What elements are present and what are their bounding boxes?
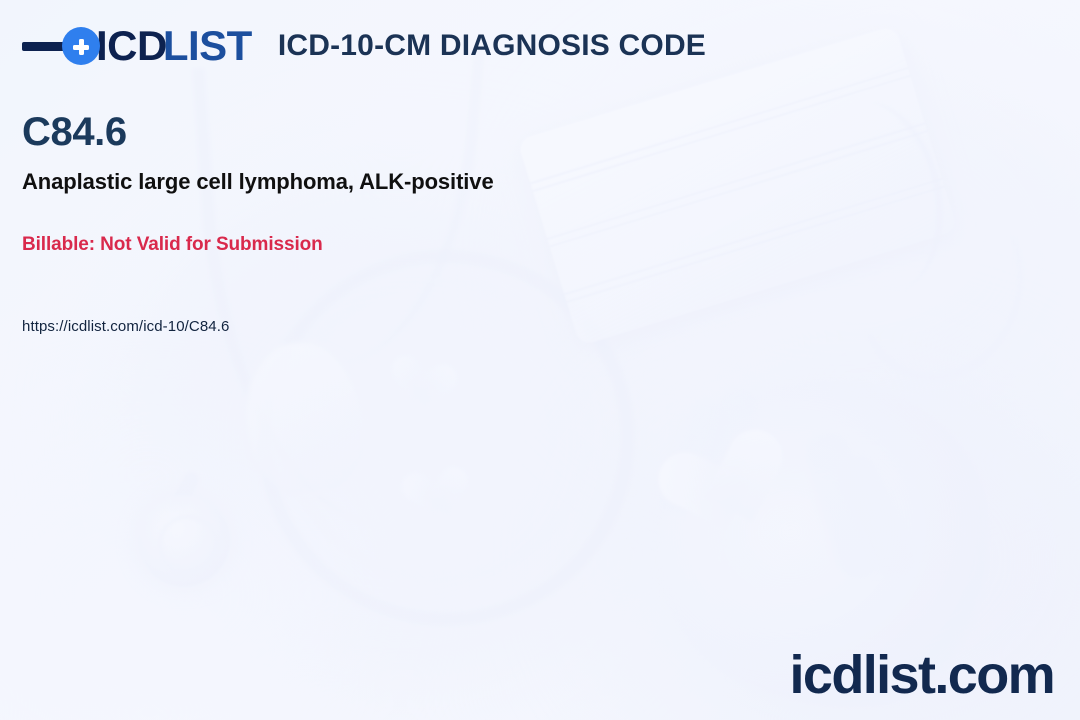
diagnosis-code: C84.6 bbox=[22, 110, 722, 154]
billable-status-badge: Billable: Not Valid for Submission bbox=[22, 234, 722, 256]
page-title: ICD-10-CM DIAGNOSIS CODE bbox=[278, 29, 706, 63]
logo-word-list: LIST bbox=[163, 25, 252, 67]
diagnosis-description: Anaplastic large cell lymphoma, ALK-posi… bbox=[22, 168, 722, 196]
card-content: ICDLIST ICD-10-CM DIAGNOSIS CODE C84.6 A… bbox=[0, 0, 1080, 720]
code-url[interactable]: https://icdlist.com/icd-10/C84.6 bbox=[22, 318, 722, 335]
code-details: C84.6 Anaplastic large cell lymphoma, AL… bbox=[22, 110, 722, 335]
header: ICDLIST ICD-10-CM DIAGNOSIS CODE bbox=[22, 20, 706, 72]
icd-code-card: ICDLIST ICD-10-CM DIAGNOSIS CODE C84.6 A… bbox=[0, 0, 1080, 720]
icdlist-logo[interactable]: ICDLIST bbox=[22, 20, 252, 72]
plus-circle-icon bbox=[62, 27, 100, 65]
footer-brand: icdlist.com bbox=[790, 648, 1054, 702]
logo-word-icd: ICD bbox=[96, 25, 167, 67]
